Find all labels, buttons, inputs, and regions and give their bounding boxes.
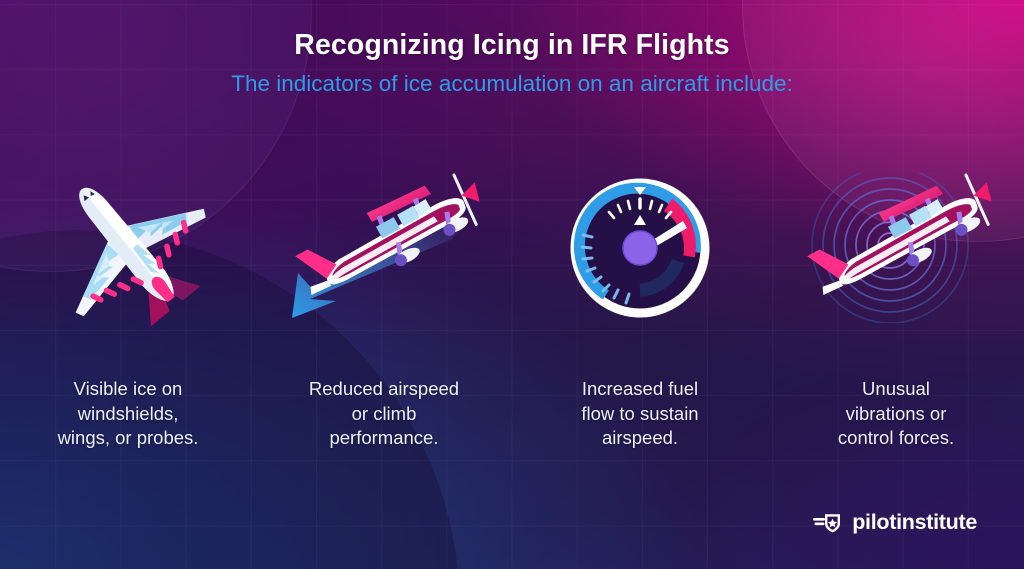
icon-container [0, 160, 256, 335]
indicator-caption: Reduced airspeed or climb performance. [309, 377, 459, 451]
indicator-card-row: Visible ice on windshields, wings, or pr… [0, 160, 1024, 451]
icon-container [512, 160, 768, 335]
winged-shield-star-icon [813, 511, 843, 535]
icon-container [768, 160, 1024, 335]
indicator-card-reduced-airspeed: Reduced airspeed or climb performance. [256, 160, 512, 451]
airspeed-gauge-icon [565, 173, 715, 323]
indicator-caption: Increased fuel flow to sustain airspeed. [581, 377, 698, 451]
indicator-card-visible-ice: Visible ice on windshields, wings, or pr… [0, 160, 256, 451]
page-subtitle: The indicators of ice accumulation on an… [0, 72, 1024, 97]
vibrating-airplane-icon [786, 173, 1006, 323]
indicator-card-unusual-vibrations: Unusual vibrations or control forces. [768, 160, 1024, 451]
header: Recognizing Icing in IFR Flights The ind… [0, 30, 1024, 97]
icon-container [256, 160, 512, 335]
iced-airliner-icon [36, 165, 221, 330]
indicator-caption: Unusual vibrations or control forces. [838, 377, 954, 451]
brand-logo[interactable]: pilotinstitute [813, 510, 977, 535]
indicator-card-increased-fuel-flow: Increased fuel flow to sustain airspeed. [512, 160, 768, 451]
indicator-caption: Visible ice on windshields, wings, or pr… [58, 377, 199, 451]
page-title: Recognizing Icing in IFR Flights [0, 30, 1024, 61]
brand-name: pilotinstitute [852, 510, 977, 535]
infographic-canvas: Recognizing Icing in IFR Flights The ind… [0, 0, 1024, 569]
descending-airplane-arrow-icon [274, 173, 494, 323]
